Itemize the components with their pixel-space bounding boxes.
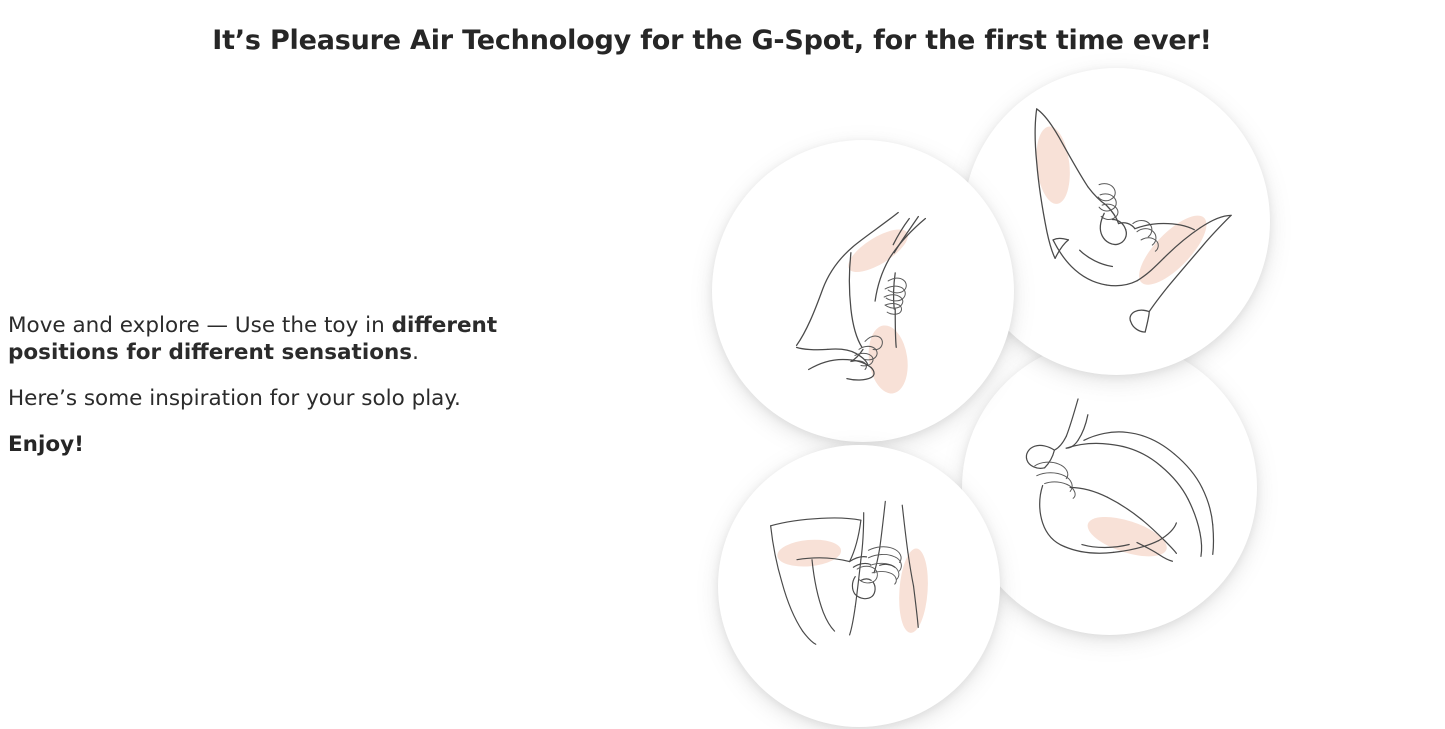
pose-illustration-kneeling-side-position: [712, 140, 1014, 442]
copy-paragraph-1: Move and explore — Use the toy in differ…: [8, 312, 564, 366]
pose-illustration-lying-on-side-position: [962, 340, 1257, 635]
page-title: It’s Pleasure Air Technology for the G-S…: [0, 25, 1424, 57]
pose-illustration-cluster: [690, 55, 1290, 725]
pose-illustration-standing-leaning-position: [718, 445, 1000, 727]
copy-paragraph-2: Here’s some inspiration for your solo pl…: [8, 385, 560, 412]
copy-paragraph-1-end: .: [412, 340, 419, 365]
copy-block: Move and explore — Use the toy in differ…: [8, 312, 608, 458]
copy-paragraph-1-lead: Move and explore — Use the toy in: [8, 313, 392, 338]
copy-closing: Enjoy!: [8, 431, 608, 458]
